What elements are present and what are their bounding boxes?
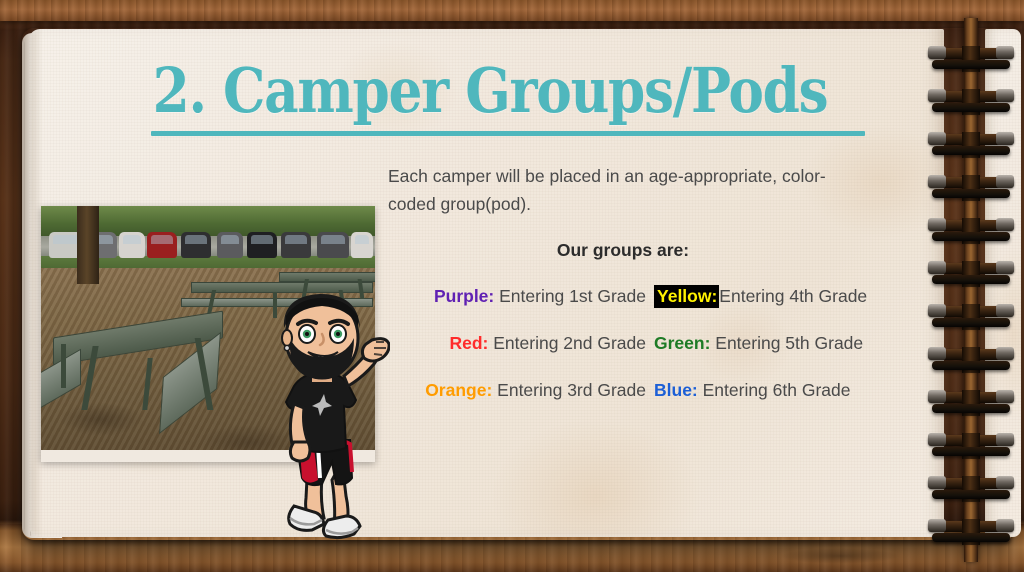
group-row: Purple: Entering 1st Grade Yellow:Enteri… [390, 286, 900, 333]
group-row: Orange: Entering 3rd Grade Blue: Enterin… [390, 380, 900, 427]
spiral-ring [928, 175, 1014, 205]
wood-plank-top [0, 0, 1024, 21]
group-entry-yellow: Yellow:Entering 4th Grade [654, 286, 900, 307]
groups-heading: Our groups are: [388, 240, 858, 261]
group-name-red: Red: [450, 333, 489, 353]
spiral-ring [928, 433, 1014, 463]
group-grade-green: Entering 5th Grade [710, 333, 863, 353]
group-grade-red: Entering 2nd Grade [488, 333, 646, 353]
photo-car [317, 232, 349, 258]
spiral-ring [928, 476, 1014, 506]
group-row: Red: Entering 2nd Grade Green: Entering … [390, 333, 900, 380]
group-name-yellow: Yellow: [654, 285, 719, 308]
spiral-ring [928, 519, 1014, 549]
photo-car [281, 232, 311, 258]
group-entry-green: Green: Entering 5th Grade [654, 333, 900, 354]
photo-car [247, 232, 277, 258]
group-name-orange: Orange: [425, 380, 492, 400]
page-title-underline [151, 131, 865, 136]
group-grade-purple: Entering 1st Grade [494, 286, 646, 306]
page-title: 2. Camper Groups/Pods [120, 58, 860, 123]
group-entry-red: Red: Entering 2nd Grade [390, 333, 654, 354]
spiral-ring [928, 132, 1014, 162]
photo-car [351, 232, 373, 258]
group-grade-blue: Entering 6th Grade [698, 380, 851, 400]
group-grade-orange: Entering 3rd Grade [492, 380, 646, 400]
spiral-ring [928, 89, 1014, 119]
spiral-ring [928, 46, 1014, 76]
group-entry-purple: Purple: Entering 1st Grade [390, 286, 654, 307]
spiral-ring [928, 261, 1014, 291]
spiral-ring [928, 347, 1014, 377]
group-name-purple: Purple: [434, 286, 494, 306]
spiral-ring [928, 304, 1014, 334]
group-entry-orange: Orange: Entering 3rd Grade [390, 380, 654, 401]
group-name-blue: Blue: [654, 380, 698, 400]
group-entry-blue: Blue: Entering 6th Grade [654, 380, 900, 401]
group-grade-yellow: Entering 4th Grade [719, 286, 867, 306]
slide-canvas: 2. Camper Groups/Pods Each camper will b… [0, 0, 1024, 572]
intro-paragraph: Each camper will be placed in an age-app… [388, 162, 858, 218]
wood-knot [780, 548, 900, 564]
spiral-ring [928, 218, 1014, 248]
group-list: Purple: Entering 1st Grade Yellow:Enteri… [390, 286, 900, 427]
bitmoji-svg [250, 282, 390, 540]
photo-car [119, 232, 145, 258]
spiral-ring [928, 390, 1014, 420]
photo-car [181, 232, 211, 258]
photo-tree-trunk [77, 206, 99, 284]
photo-car [147, 232, 177, 258]
photo-car [217, 232, 243, 258]
group-name-green: Green: [654, 333, 710, 353]
bitmoji-avatar [250, 282, 390, 540]
